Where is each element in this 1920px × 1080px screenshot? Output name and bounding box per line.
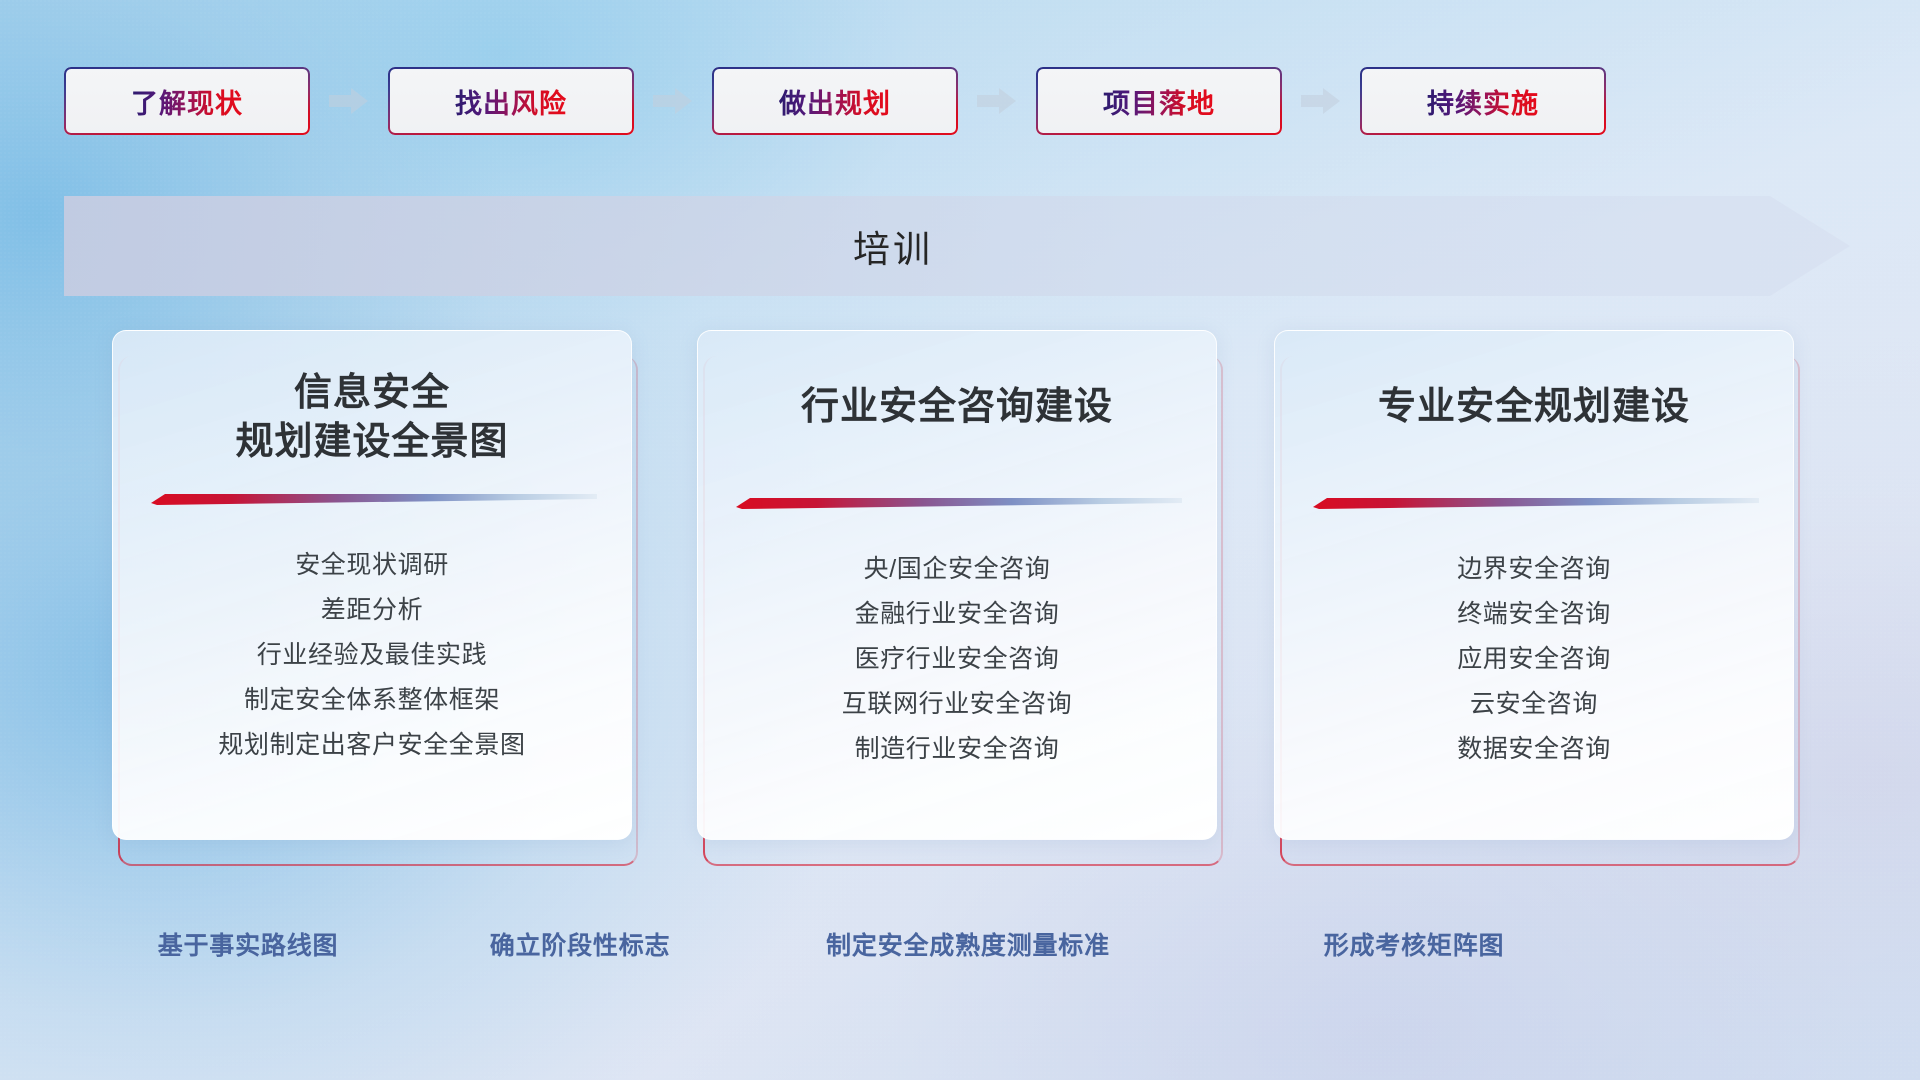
list-item: 医疗行业安全咨询 <box>698 637 1216 682</box>
step-label-4: 项目落地 <box>1103 82 1215 121</box>
bottom-label-4: 形成考核矩阵图 <box>1324 926 1505 962</box>
training-banner-arrow <box>64 196 1850 296</box>
cards-row: 信息安全 规划建设全景图 <box>0 330 1920 870</box>
card-1[interactable]: 信息安全 规划建设全景图 <box>112 330 640 870</box>
card-1-title-line-1: 信息安全 <box>142 369 602 418</box>
list-item: 互联网行业安全咨询 <box>698 682 1216 727</box>
process-step-flow: 了解现状 找出风险 做出规划 项目落地 持续实施 <box>64 66 1856 136</box>
card-2-item-list: 央/国企安全咨询 金融行业安全咨询 医疗行业安全咨询 互联网行业安全咨询 制造行… <box>698 547 1216 772</box>
list-item: 制定安全体系整体框架 <box>113 678 631 723</box>
step-box-2[interactable]: 找出风险 <box>388 67 634 135</box>
list-item: 行业经验及最佳实践 <box>113 633 631 678</box>
card-2-title: 行业安全咨询建设 <box>727 383 1187 432</box>
card-3-item-list: 边界安全咨询 终端安全咨询 应用安全咨询 云安全咨询 数据安全咨询 <box>1275 547 1793 772</box>
card-1-title-line-2: 规划建设全景图 <box>142 418 602 467</box>
right-arrow-icon <box>977 86 1017 116</box>
list-item: 应用安全咨询 <box>1275 637 1793 682</box>
right-arrow-icon <box>329 86 369 116</box>
card-1-item-list: 安全现状调研 差距分析 行业经验及最佳实践 制定安全体系整体框架 规划制定出客户… <box>113 543 631 768</box>
bottom-label-1: 基于事实路线图 <box>158 926 339 962</box>
list-item: 差距分析 <box>113 588 631 633</box>
list-item: 安全现状调研 <box>113 543 631 588</box>
step-box-1[interactable]: 了解现状 <box>64 67 310 135</box>
step-box-3[interactable]: 做出规划 <box>712 67 958 135</box>
card-2[interactable]: 行业安全咨询建设 <box>697 330 1225 870</box>
step-box-5[interactable]: 持续实施 <box>1360 67 1606 135</box>
bottom-label-3: 制定安全成熟度测量标准 <box>826 926 1110 962</box>
right-arrow-icon <box>1301 86 1341 116</box>
bottom-label-2: 确立阶段性标志 <box>490 926 671 962</box>
step-label-1: 了解现状 <box>131 82 243 121</box>
step-box-4[interactable]: 项目落地 <box>1036 67 1282 135</box>
list-item: 规划制定出客户安全全景图 <box>113 723 631 768</box>
step-label-5: 持续实施 <box>1427 82 1539 121</box>
list-item: 终端安全咨询 <box>1275 592 1793 637</box>
step-label-3: 做出规划 <box>779 82 891 121</box>
card-2-title-line-1: 行业安全咨询建设 <box>727 383 1187 432</box>
card-1-title: 信息安全 规划建设全景图 <box>142 369 602 468</box>
card-1-divider <box>151 491 597 507</box>
card-2-divider <box>736 495 1182 511</box>
step-label-2: 找出风险 <box>455 82 567 121</box>
card-3[interactable]: 专业安全规划建设 <box>1274 330 1802 870</box>
list-item: 数据安全咨询 <box>1275 727 1793 772</box>
card-3-title-line-1: 专业安全规划建设 <box>1304 383 1764 432</box>
list-item: 金融行业安全咨询 <box>698 592 1216 637</box>
card-3-divider <box>1313 495 1759 511</box>
right-arrow-icon <box>653 86 693 116</box>
list-item: 制造行业安全咨询 <box>698 727 1216 772</box>
list-item: 央/国企安全咨询 <box>698 547 1216 592</box>
list-item: 云安全咨询 <box>1275 682 1793 727</box>
card-3-title: 专业安全规划建设 <box>1304 383 1764 432</box>
list-item: 边界安全咨询 <box>1275 547 1793 592</box>
